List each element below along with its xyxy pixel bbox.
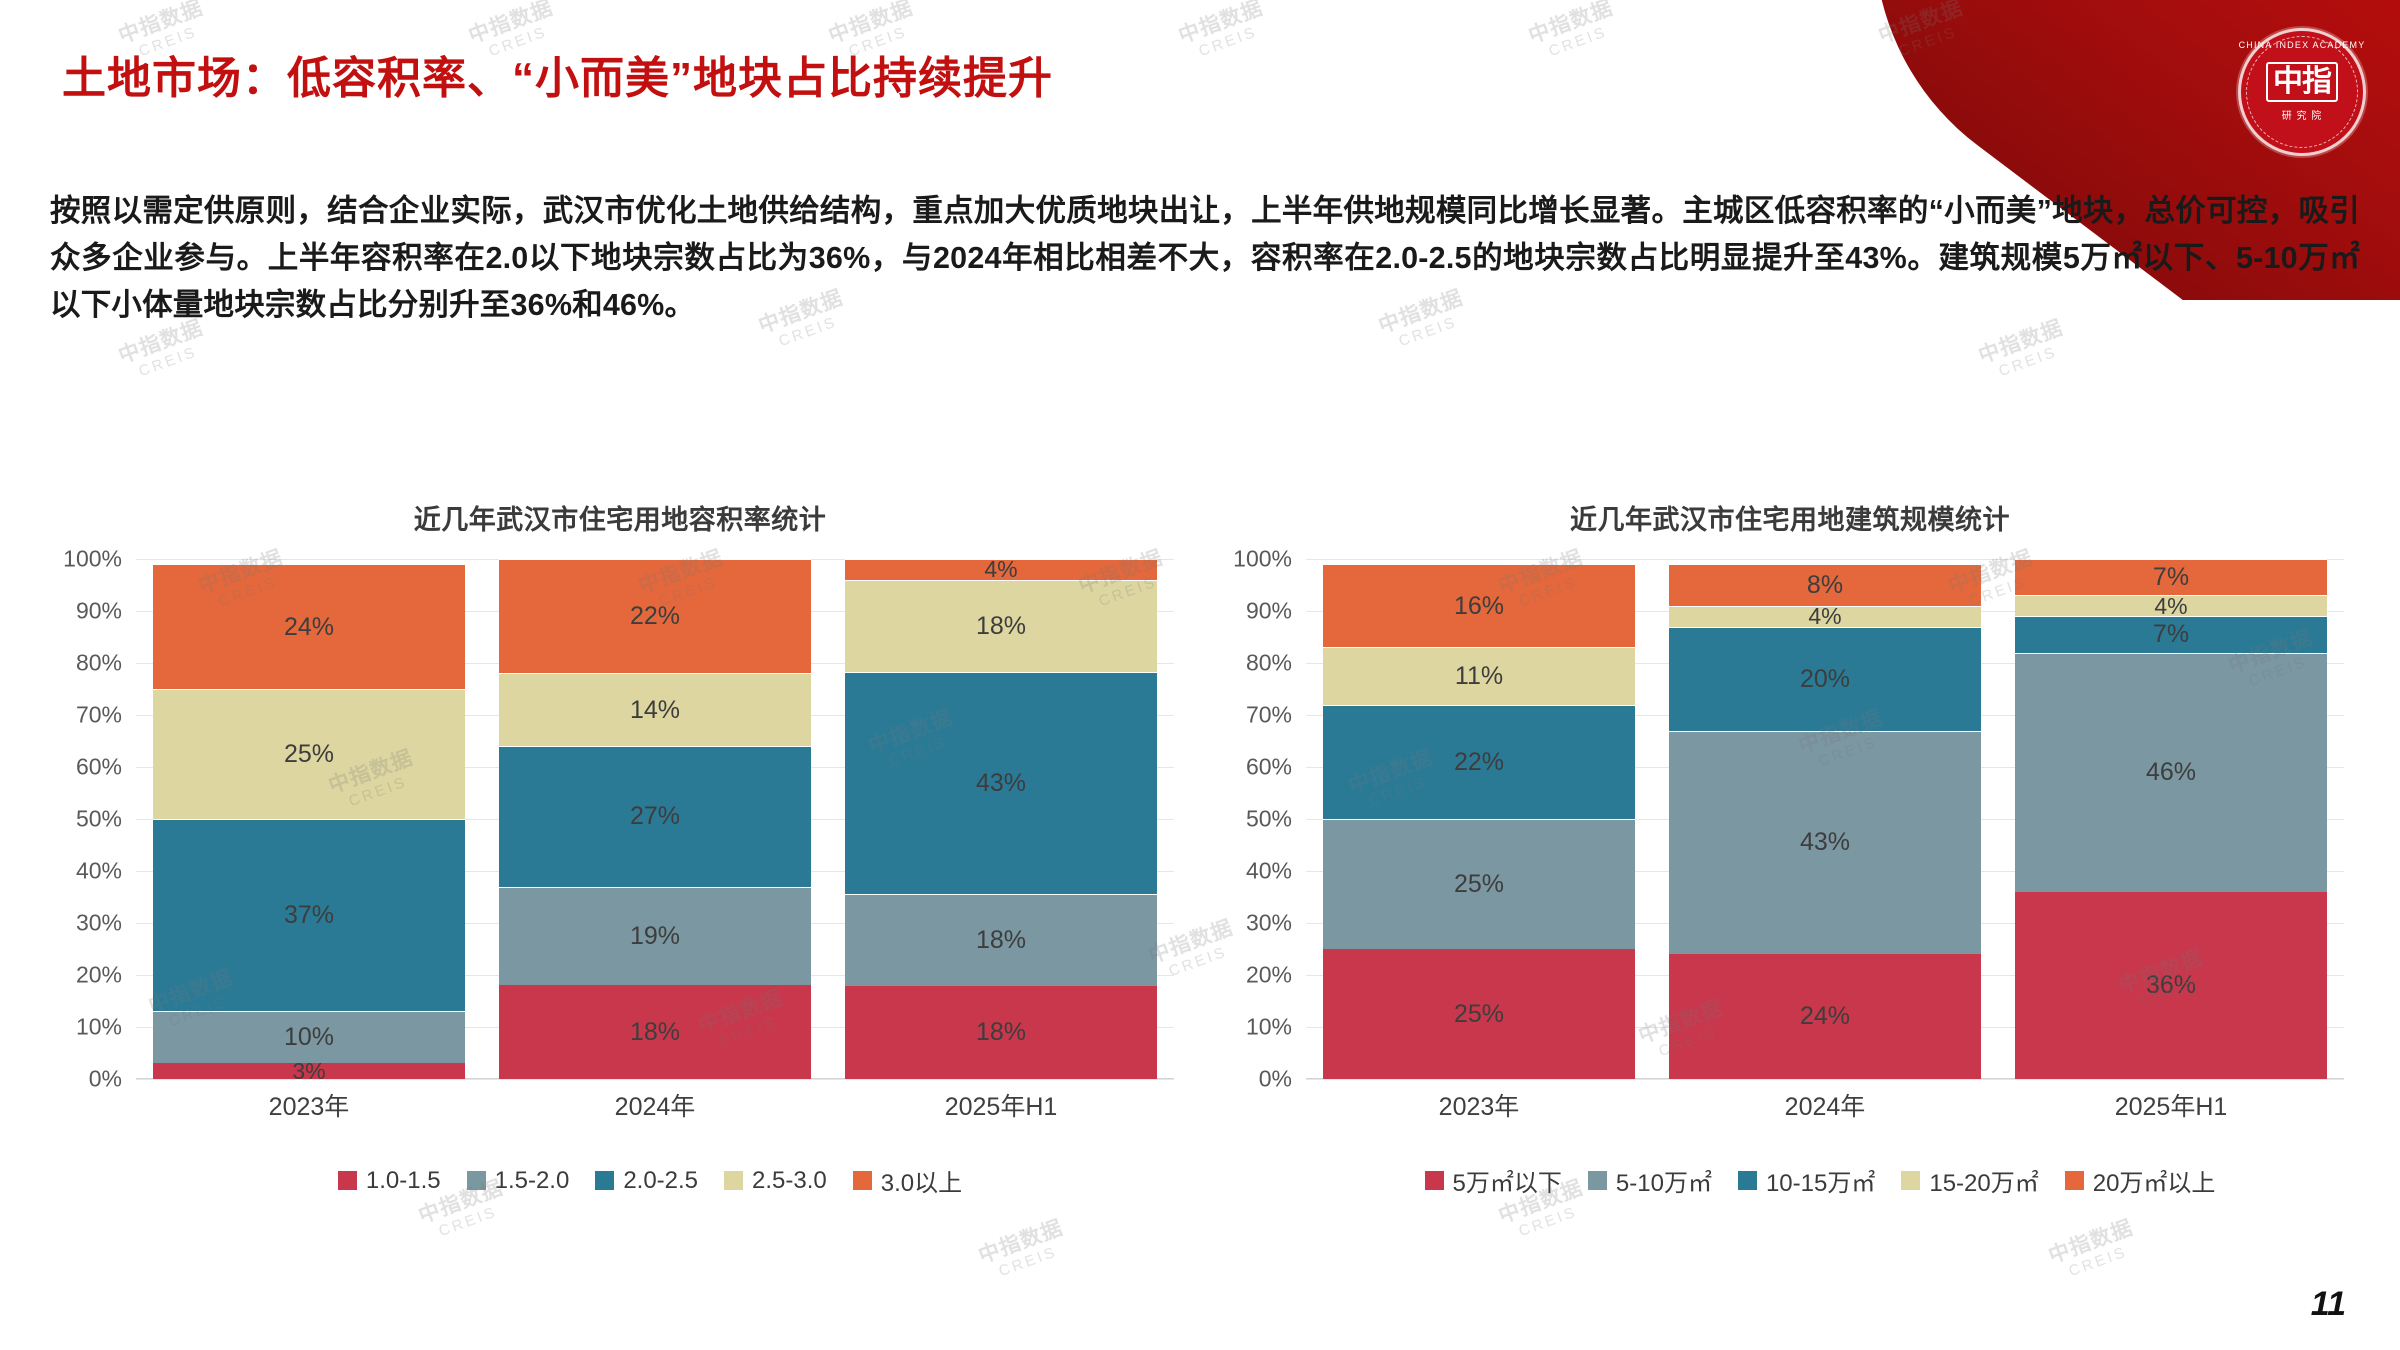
chart-far-bar-segment[interactable]: 25% bbox=[153, 689, 464, 819]
chart-far-legend-label: 2.0-2.5 bbox=[623, 1167, 698, 1195]
chart-scale-y-tick: 20% bbox=[1246, 962, 1292, 989]
chart-far-bar-segment[interactable]: 18% bbox=[499, 985, 810, 1079]
china-index-academy-logo: CHINA INDEX ACADEMY 中指 研 究 院 bbox=[2238, 28, 2366, 156]
chart-far-bar-segment[interactable]: 43% bbox=[845, 672, 1156, 893]
chart-far-bar-value-label: 18% bbox=[976, 926, 1026, 955]
chart-far-legend-swatch bbox=[338, 1171, 357, 1190]
chart-far-bars: 3%10%37%25%24%18%19%27%14%22%18%18%43%18… bbox=[136, 559, 1174, 1079]
summary-paragraph: 按照以需定供原则，结合企业实际，武汉市优化土地供给结构，重点加大优质地块出让，上… bbox=[50, 188, 2360, 329]
chart-far-legend-item[interactable]: 2.0-2.5 bbox=[595, 1167, 698, 1195]
chart-far-bar-segment[interactable]: 18% bbox=[845, 580, 1156, 673]
chart-scale-bar-segment[interactable]: 22% bbox=[1323, 705, 1634, 819]
chart-far-y-tick: 90% bbox=[76, 598, 122, 625]
chart-scale-bar-segment[interactable]: 16% bbox=[1323, 564, 1634, 647]
chart-scale-y-tick: 80% bbox=[1246, 650, 1292, 677]
chart-far-legend-label: 3.0以上 bbox=[881, 1163, 962, 1198]
watermark: 中指数据CREIS bbox=[1876, 0, 1973, 65]
chart-far-bar-value-label: 4% bbox=[984, 559, 1017, 580]
chart-far-bar-segment[interactable]: 4% bbox=[845, 559, 1156, 580]
chart-scale-bar-value-label: 4% bbox=[1808, 606, 1841, 627]
chart-far-bar-value-label: 19% bbox=[630, 922, 680, 951]
logo-sub-text: 研 究 院 bbox=[2282, 107, 2323, 122]
chart-scale-bar-segment[interactable]: 7% bbox=[2015, 616, 2326, 652]
chart-far: 近几年武汉市住宅用地容积率统计 0%10%20%30%40%50%60%70%8… bbox=[40, 498, 1200, 1288]
chart-scale-bar-value-label: 25% bbox=[1454, 870, 1504, 899]
chart-scale: 近几年武汉市住宅用地建筑规模统计 0%10%20%30%40%50%60%70%… bbox=[1210, 498, 2370, 1288]
chart-far-y-tick: 50% bbox=[76, 806, 122, 833]
chart-scale-bar-value-label: 8% bbox=[1807, 571, 1843, 600]
chart-scale-bar-segment[interactable]: 7% bbox=[2015, 559, 2326, 595]
chart-far-bar-segment[interactable]: 3% bbox=[153, 1063, 464, 1079]
chart-scale-bar-segment[interactable]: 36% bbox=[2015, 892, 2326, 1079]
chart-far-bar-value-label: 43% bbox=[976, 769, 1026, 798]
chart-scale-legend-label: 5万㎡以下 bbox=[1453, 1163, 1562, 1198]
chart-far-bar-value-label: 37% bbox=[284, 901, 334, 930]
chart-scale-y-tick: 50% bbox=[1246, 806, 1292, 833]
chart-far-x-axis: 2023年2024年2025年H1 bbox=[136, 1087, 1174, 1123]
chart-far-bar-segment[interactable]: 22% bbox=[499, 559, 810, 673]
chart-far-legend-swatch bbox=[724, 1171, 743, 1190]
chart-scale-legend-swatch bbox=[2065, 1171, 2084, 1190]
chart-scale-bar-segment[interactable]: 43% bbox=[1669, 731, 1980, 955]
chart-far-bar-segment[interactable]: 37% bbox=[153, 819, 464, 1011]
chart-scale-y-tick: 10% bbox=[1246, 1014, 1292, 1041]
chart-far-y-tick: 100% bbox=[63, 546, 122, 573]
chart-scale-y-tick: 70% bbox=[1246, 702, 1292, 729]
watermark: 中指数据CREIS bbox=[1176, 0, 1273, 65]
chart-scale-legend-label: 15-20万㎡ bbox=[1929, 1163, 2038, 1198]
chart-scale-legend-item[interactable]: 15-20万㎡ bbox=[1901, 1163, 2038, 1198]
chart-scale-bar-segment[interactable]: 24% bbox=[1669, 954, 1980, 1079]
chart-scale-legend-item[interactable]: 5万㎡以下 bbox=[1425, 1163, 1562, 1198]
chart-far-bar-segment[interactable]: 10% bbox=[153, 1011, 464, 1063]
chart-scale-bar-value-label: 46% bbox=[2146, 758, 2196, 787]
chart-scale-bar-value-label: 20% bbox=[1800, 665, 1850, 694]
chart-scale-title: 近几年武汉市住宅用地建筑规模统计 bbox=[1210, 498, 2370, 537]
chart-far-legend-item[interactable]: 3.0以上 bbox=[853, 1163, 962, 1198]
page-title: 土地市场：低容积率、“小而美”地块占比持续提升 bbox=[62, 42, 1053, 106]
chart-far-legend-item[interactable]: 1.5-2.0 bbox=[467, 1167, 570, 1195]
chart-far-x-tick: 2023年 bbox=[153, 1087, 464, 1123]
logo-arc-text: CHINA INDEX ACADEMY bbox=[2238, 40, 2366, 50]
chart-far-bar-segment[interactable]: 24% bbox=[153, 564, 464, 689]
chart-far-legend-item[interactable]: 1.0-1.5 bbox=[338, 1167, 441, 1195]
chart-scale-legend-item[interactable]: 10-15万㎡ bbox=[1738, 1163, 1875, 1198]
chart-scale-bar-segment[interactable]: 25% bbox=[1323, 949, 1634, 1079]
chart-far-bar-value-label: 10% bbox=[284, 1023, 334, 1052]
watermark: 中指数据CREIS bbox=[1526, 0, 1623, 65]
chart-far-y-tick: 10% bbox=[76, 1014, 122, 1041]
chart-far-bar-column[interactable]: 18%18%43%18%4% bbox=[845, 559, 1156, 1079]
chart-far-bar-column[interactable]: 18%19%27%14%22% bbox=[499, 559, 810, 1079]
chart-far-bar-segment[interactable]: 18% bbox=[845, 894, 1156, 987]
chart-scale-legend-swatch bbox=[1738, 1171, 1757, 1190]
chart-far-legend-swatch bbox=[595, 1171, 614, 1190]
chart-far-bar-value-label: 24% bbox=[284, 613, 334, 642]
chart-far-bar-value-label: 18% bbox=[976, 612, 1026, 641]
chart-far-gridline bbox=[136, 1079, 1174, 1080]
chart-far-legend-label: 1.0-1.5 bbox=[366, 1167, 441, 1195]
chart-far-y-tick: 80% bbox=[76, 650, 122, 677]
chart-scale-bar-value-label: 4% bbox=[2154, 595, 2187, 616]
chart-far-legend-label: 1.5-2.0 bbox=[495, 1167, 570, 1195]
logo-mark-text: 中指 bbox=[2266, 62, 2338, 102]
chart-scale-bars: 25%25%22%11%16%24%43%20%4%8%36%46%7%4%7% bbox=[1306, 559, 2344, 1079]
chart-far-y-tick: 60% bbox=[76, 754, 122, 781]
chart-scale-bar-value-label: 43% bbox=[1800, 828, 1850, 857]
chart-scale-y-tick: 60% bbox=[1246, 754, 1292, 781]
chart-scale-legend: 5万㎡以下5-10万㎡10-15万㎡15-20万㎡20万㎡以上 bbox=[1210, 1163, 2370, 1198]
page-number: 11 bbox=[2311, 1285, 2346, 1324]
chart-scale-legend-item[interactable]: 5-10万㎡ bbox=[1588, 1163, 1712, 1198]
chart-scale-bar-column[interactable]: 36%46%7%4%7% bbox=[2015, 559, 2326, 1079]
chart-far-bar-value-label: 18% bbox=[630, 1018, 680, 1047]
chart-scale-bar-value-label: 16% bbox=[1454, 592, 1504, 621]
chart-far-bar-value-label: 14% bbox=[630, 696, 680, 725]
chart-scale-bar-value-label: 11% bbox=[1455, 662, 1503, 691]
chart-scale-y-tick: 90% bbox=[1246, 598, 1292, 625]
chart-scale-bar-segment[interactable]: 8% bbox=[1669, 564, 1980, 606]
chart-far-bar-column[interactable]: 3%10%37%25%24% bbox=[153, 559, 464, 1079]
chart-far-legend-swatch bbox=[853, 1171, 872, 1190]
chart-scale-legend-swatch bbox=[1901, 1171, 1920, 1190]
chart-far-y-tick: 20% bbox=[76, 962, 122, 989]
chart-scale-legend-swatch bbox=[1588, 1171, 1607, 1190]
chart-far-y-tick: 70% bbox=[76, 702, 122, 729]
chart-scale-bar-value-label: 7% bbox=[2153, 563, 2189, 592]
chart-scale-bar-value-label: 22% bbox=[1454, 748, 1504, 777]
chart-scale-x-tick: 2024年 bbox=[1669, 1087, 1980, 1123]
chart-far-legend: 1.0-1.51.5-2.02.0-2.52.5-3.03.0以上 bbox=[40, 1163, 1200, 1198]
chart-far-y-tick: 0% bbox=[89, 1066, 122, 1093]
chart-scale-x-tick: 2023年 bbox=[1323, 1087, 1634, 1123]
chart-scale-bar-segment[interactable]: 4% bbox=[2015, 595, 2326, 616]
chart-far-legend-item[interactable]: 2.5-3.0 bbox=[724, 1167, 827, 1195]
chart-far-bar-segment[interactable]: 14% bbox=[499, 673, 810, 746]
chart-far-y-axis: 0%10%20%30%40%50%60%70%80%90%100% bbox=[40, 559, 132, 1079]
chart-scale-bar-value-label: 7% bbox=[2153, 620, 2189, 649]
chart-scale-legend-item[interactable]: 20万㎡以上 bbox=[2065, 1163, 2216, 1198]
chart-scale-y-tick: 100% bbox=[1233, 546, 1292, 573]
chart-scale-bar-value-label: 25% bbox=[1454, 1000, 1504, 1029]
chart-scale-legend-label: 20万㎡以上 bbox=[2093, 1163, 2216, 1198]
chart-far-bar-value-label: 18% bbox=[976, 1018, 1026, 1047]
chart-far-bar-segment[interactable]: 18% bbox=[845, 986, 1156, 1079]
chart-far-bar-value-label: 27% bbox=[630, 802, 680, 831]
chart-far-bar-value-label: 3% bbox=[292, 1063, 325, 1079]
chart-scale-bar-segment[interactable]: 4% bbox=[1669, 606, 1980, 627]
chart-scale-bar-column[interactable]: 24%43%20%4%8% bbox=[1669, 559, 1980, 1079]
chart-far-y-tick: 30% bbox=[76, 910, 122, 937]
chart-scale-legend-label: 10-15万㎡ bbox=[1766, 1163, 1875, 1198]
chart-far-bar-segment[interactable]: 27% bbox=[499, 746, 810, 886]
chart-scale-gridline bbox=[1306, 1079, 2344, 1080]
chart-scale-y-tick: 0% bbox=[1259, 1066, 1292, 1093]
chart-scale-y-tick: 40% bbox=[1246, 858, 1292, 885]
chart-far-x-tick: 2025年H1 bbox=[845, 1087, 1156, 1123]
chart-scale-y-tick: 30% bbox=[1246, 910, 1292, 937]
chart-scale-bar-value-label: 36% bbox=[2146, 971, 2196, 1000]
chart-scale-legend-label: 5-10万㎡ bbox=[1616, 1163, 1712, 1198]
chart-scale-x-tick: 2025年H1 bbox=[2015, 1087, 2326, 1123]
chart-far-bar-value-label: 22% bbox=[630, 602, 680, 631]
chart-scale-bar-segment[interactable]: 25% bbox=[1323, 819, 1634, 949]
chart-far-legend-swatch bbox=[467, 1171, 486, 1190]
chart-far-bar-value-label: 25% bbox=[284, 740, 334, 769]
chart-scale-legend-swatch bbox=[1425, 1171, 1444, 1190]
chart-scale-bar-value-label: 24% bbox=[1800, 1002, 1850, 1031]
chart-scale-y-axis: 0%10%20%30%40%50%60%70%80%90%100% bbox=[1210, 559, 1302, 1079]
chart-far-title: 近几年武汉市住宅用地容积率统计 bbox=[40, 498, 1200, 537]
chart-far-legend-label: 2.5-3.0 bbox=[752, 1167, 827, 1195]
chart-scale-bar-segment[interactable]: 11% bbox=[1323, 647, 1634, 704]
chart-scale-bar-column[interactable]: 25%25%22%11%16% bbox=[1323, 559, 1634, 1079]
chart-scale-bar-segment[interactable]: 46% bbox=[2015, 653, 2326, 892]
chart-far-bar-segment[interactable]: 19% bbox=[499, 887, 810, 986]
chart-far-x-tick: 2024年 bbox=[499, 1087, 810, 1123]
chart-scale-x-axis: 2023年2024年2025年H1 bbox=[1306, 1087, 2344, 1123]
chart-scale-bar-segment[interactable]: 20% bbox=[1669, 627, 1980, 731]
chart-far-y-tick: 40% bbox=[76, 858, 122, 885]
